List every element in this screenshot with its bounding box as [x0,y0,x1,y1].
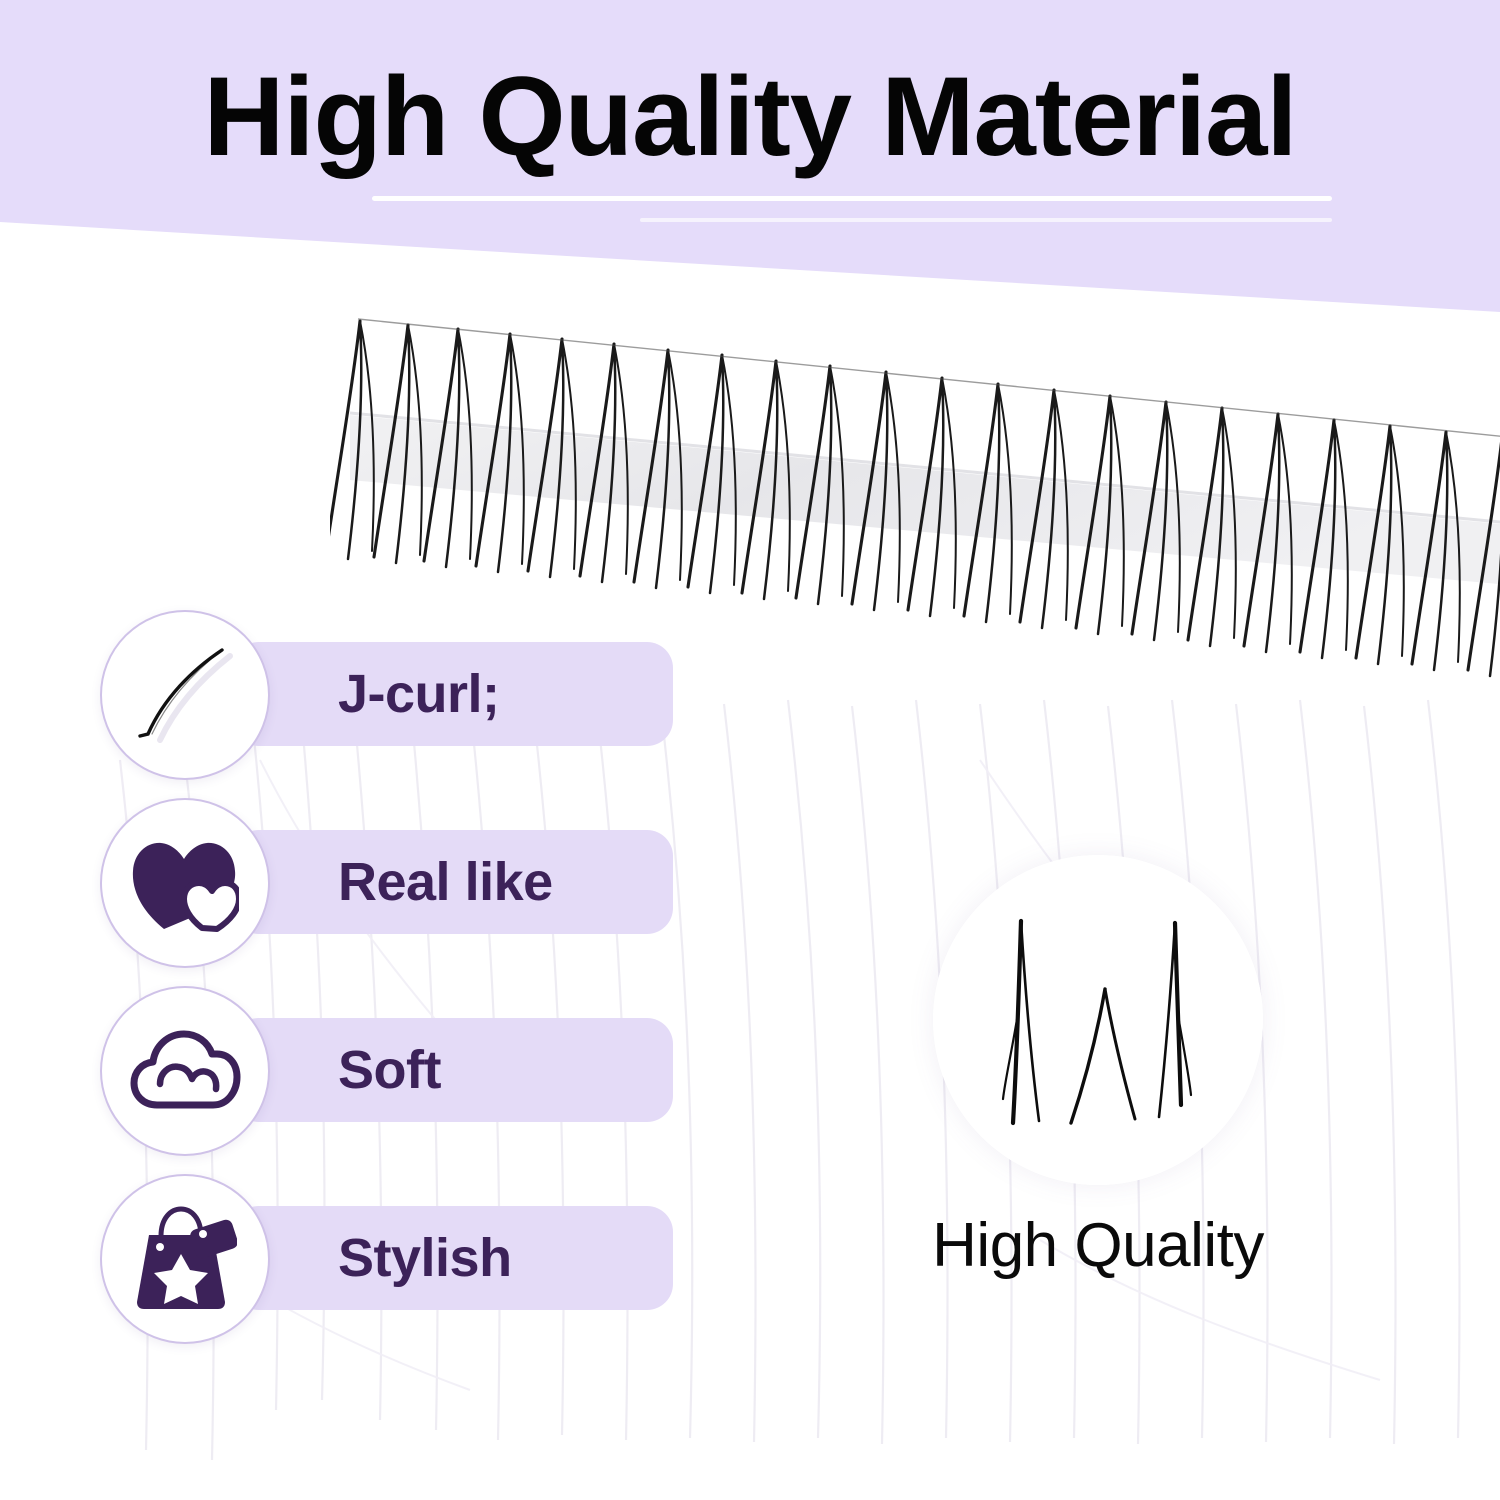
feature-pill [233,1018,673,1122]
feature-icon-circle [100,798,270,968]
feature-label: Stylish [338,1206,512,1310]
page-title: High Quality Material [0,58,1500,176]
feature-row[interactable]: Soft [100,976,600,1164]
feature-label: Soft [338,1018,441,1122]
infographic-canvas: High Quality Material [0,0,1500,1500]
feature-icon-circle [100,610,270,780]
zoom-inset-caption: High Quality [833,1210,1363,1281]
feature-row[interactable]: Stylish [100,1164,600,1352]
feature-row[interactable]: Real like [100,788,600,976]
double-heart-icon [131,833,239,933]
feature-label: J-curl; [338,642,500,746]
lash-curve-icon [126,636,244,754]
cloud-icon [129,1027,241,1115]
title-underline-primary [372,196,1332,201]
shopping-bag-star-icon [133,1206,237,1312]
feature-list: J-curl; Real like Soft [100,600,600,1352]
zoom-inset-circle [933,855,1263,1185]
title-underline-secondary [640,218,1332,222]
feature-row[interactable]: J-curl; [100,600,600,788]
magnified-lash-fibers [933,855,1263,1185]
feature-icon-circle [100,1174,270,1344]
feature-icon-circle [100,986,270,1156]
feature-label: Real like [338,830,553,934]
